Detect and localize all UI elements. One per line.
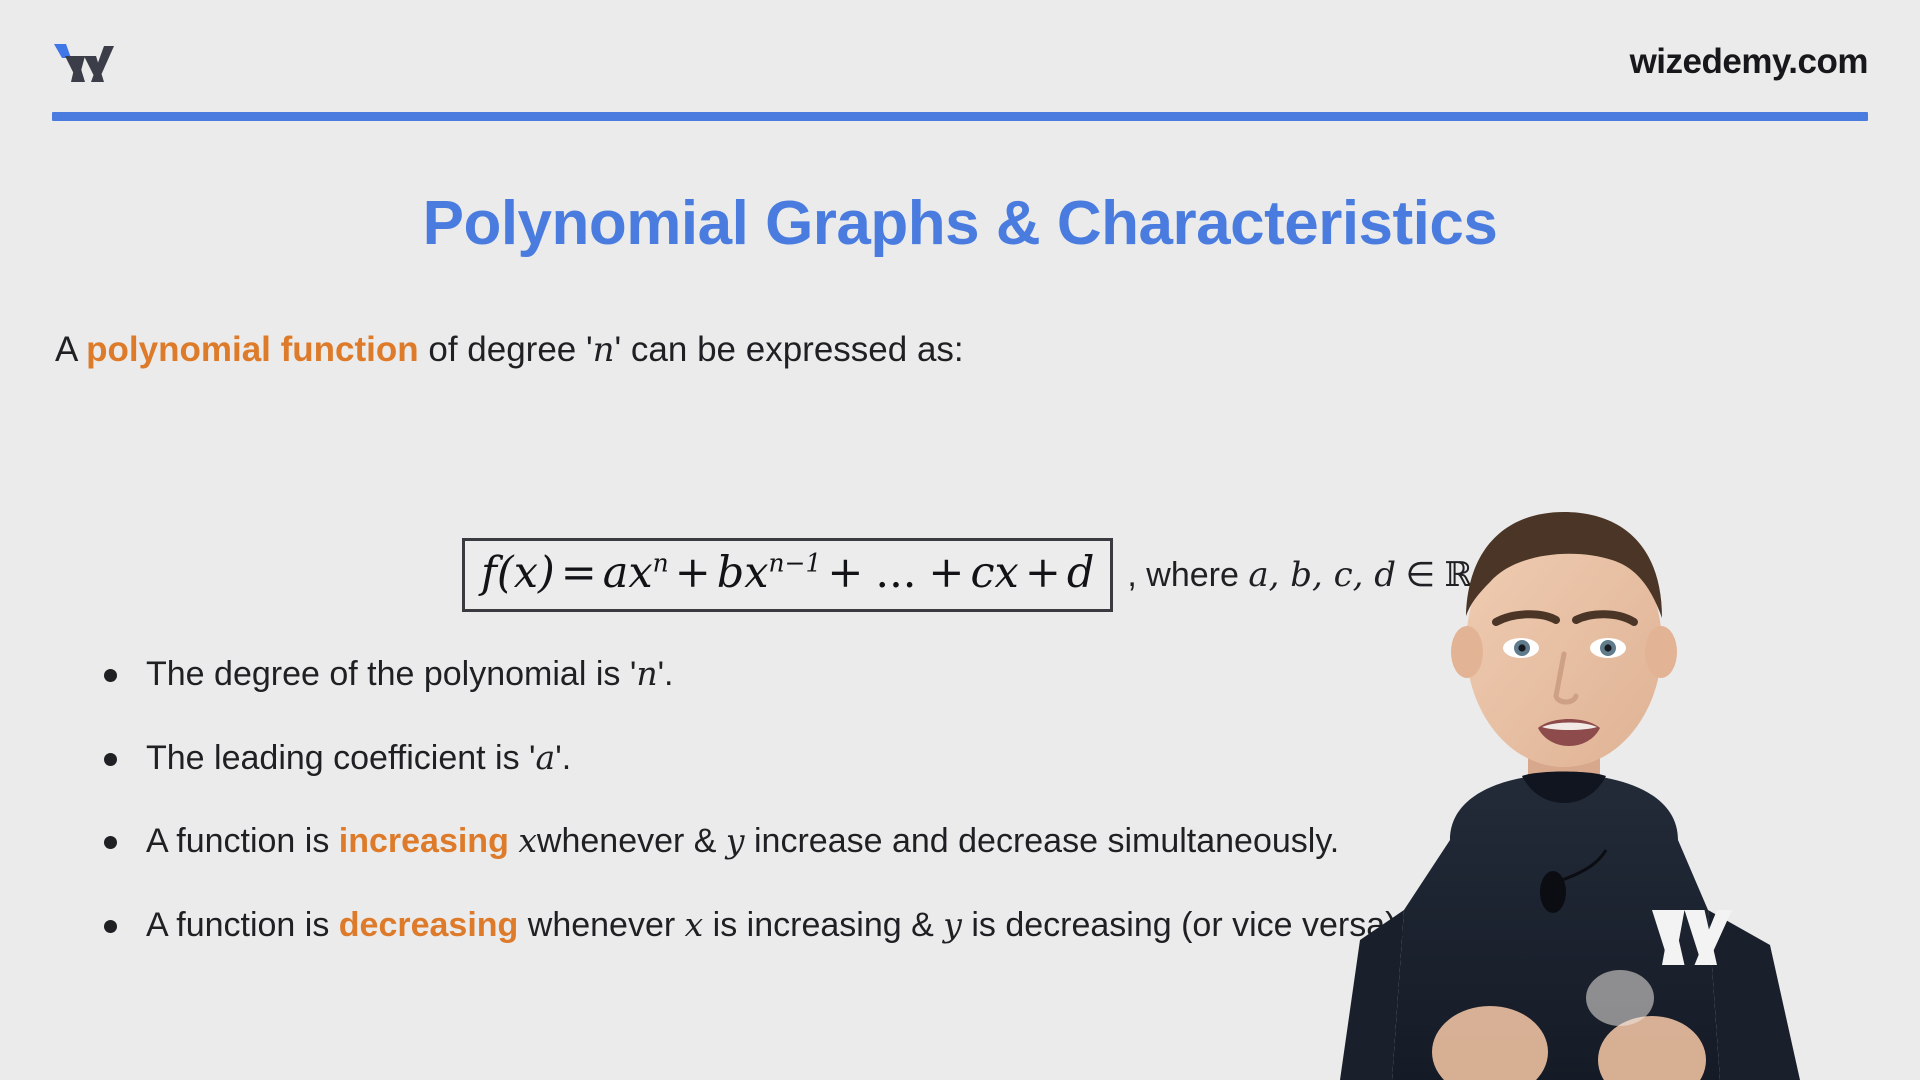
formula-term2-coef: b	[717, 548, 745, 598]
list-item: A function is decreasing whenever x is i…	[104, 904, 1554, 947]
intro-highlight: polynomial function	[86, 330, 418, 369]
bullet-text-segment: increase and decrease simultaneously.	[745, 822, 1340, 860]
formula-term1-base: x	[628, 548, 652, 598]
bullet-text-segment: A function is	[146, 906, 339, 944]
intro-sentence: A polynomial function of degree 'n' can …	[55, 330, 964, 370]
bullet-text-segment: A function is	[146, 822, 339, 860]
bullet-math-var: a	[536, 738, 556, 777]
list-item: The leading coefficient is 'a'.	[104, 737, 1554, 780]
bullet-dot-icon	[104, 753, 117, 766]
bullet-math-var: n	[636, 654, 657, 693]
list-item-label: The leading coefficient is 'a'.	[146, 737, 571, 780]
slide-header: wizedemy.com	[0, 0, 1920, 128]
bullet-text-segment: '.	[658, 655, 674, 693]
formula-tail-lead: , where	[1127, 556, 1248, 594]
formula-term1-exp: n	[653, 549, 669, 578]
formula-constant: d	[1067, 548, 1095, 598]
bullet-list: The degree of the polynomial is 'n'.The …	[104, 653, 1554, 987]
formula-tail-member: ∈	[1396, 556, 1445, 594]
bullet-text-segment: '.	[555, 739, 571, 777]
bullet-dot-icon	[104, 836, 117, 849]
brand-url: wizedemy.com	[1630, 42, 1868, 82]
bullet-text-segment: is increasing &	[703, 906, 943, 944]
bullet-highlight: increasing	[339, 822, 509, 860]
bullet-math-var: x	[685, 905, 704, 944]
formula-row: f(x)=axn+bxn−1+...+cx+d , where a, b, c,…	[462, 538, 1482, 612]
formula-term3-coef: c	[970, 548, 994, 598]
list-item-label: The degree of the polynomial is 'n'.	[146, 653, 674, 696]
formula-tail-set: ℝ	[1445, 555, 1473, 595]
list-item-label: A function is decreasing whenever x is i…	[146, 904, 1406, 947]
list-item: A function is increasing xwhenever & y i…	[104, 820, 1554, 863]
formula-tail: , where a, b, c, d ∈ ℝ.	[1127, 555, 1482, 595]
formula-plus-2: +	[821, 548, 869, 598]
formula-tail-period: .	[1473, 556, 1482, 594]
bullet-dot-icon	[104, 920, 117, 933]
intro-part3: ' can be expressed as:	[615, 330, 964, 369]
formula-box: f(x)=axn+bxn−1+...+cx+d	[462, 538, 1113, 612]
formula-tail-vars: a, b, c, d	[1248, 555, 1396, 595]
formula-plus-4: +	[1019, 548, 1067, 598]
formula-term1-coef: a	[603, 548, 629, 598]
slide-body: Polynomial Graphs & Characteristics A po…	[0, 128, 1920, 1080]
formula-term3-base: x	[995, 548, 1019, 598]
formula-ellipsis: ...	[869, 548, 922, 598]
formula-lhs: f(x)	[481, 548, 555, 598]
intro-part1: A	[55, 330, 86, 369]
wizedemy-w-logo-icon	[52, 40, 124, 92]
list-item-label: A function is increasing xwhenever & y i…	[146, 820, 1339, 863]
formula-plus-1: +	[669, 548, 717, 598]
bullet-text-segment: whenever	[518, 906, 684, 944]
bullet-text-segment: is decreasing (or vice versa).	[962, 906, 1406, 944]
bullet-math-var: x	[518, 821, 537, 860]
formula-term2-base: x	[744, 548, 768, 598]
bullet-text-segment: The degree of the polynomial is '	[146, 655, 636, 693]
formula-equals: =	[555, 548, 603, 598]
header-divider	[52, 112, 1868, 121]
bullet-dot-icon	[104, 669, 117, 682]
bullet-math-var: y	[726, 821, 745, 860]
bullet-highlight: decreasing	[339, 906, 519, 944]
page-title: Polynomial Graphs & Characteristics	[0, 188, 1920, 259]
formula-plus-3: +	[922, 548, 970, 598]
bullet-text-segment	[509, 822, 518, 860]
bullet-math-var: y	[943, 905, 962, 944]
bullet-text-segment: whenever &	[537, 822, 726, 860]
intro-math-var: n	[593, 330, 615, 370]
intro-part2: of degree '	[419, 330, 593, 369]
list-item: The degree of the polynomial is 'n'.	[104, 653, 1554, 696]
bullet-text-segment: The leading coefficient is '	[146, 739, 536, 777]
formula-term2-exp: n−1	[769, 549, 822, 578]
